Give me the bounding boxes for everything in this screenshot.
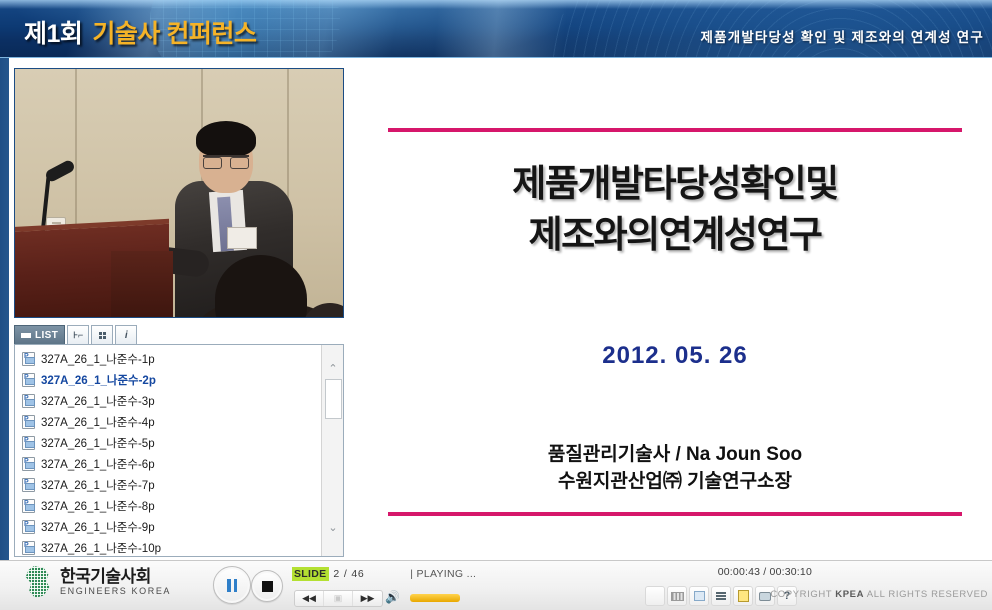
- volume-icon[interactable]: 🔊: [385, 590, 400, 604]
- copyright-brand: KPEA: [835, 589, 864, 600]
- slide-rule-top: [388, 128, 962, 132]
- slide-total: 46: [351, 568, 364, 580]
- tab-outline[interactable]: ⊦⌐: [67, 325, 89, 345]
- list-item[interactable]: 327A_26_1_나준수-8p: [15, 495, 319, 516]
- slide-list-box: 327A_26_1_나준수-1p 327A_26_1_나준수-2p 327A_2…: [14, 344, 344, 557]
- repeat-button[interactable]: ▣: [324, 591, 353, 606]
- powerpoint-file-icon: [22, 436, 35, 450]
- list-icon: [21, 333, 31, 338]
- lecture-video-player[interactable]: [14, 68, 344, 318]
- tab-list[interactable]: LIST: [14, 325, 65, 345]
- speaker-hair: [196, 121, 256, 157]
- scrollbar-thumb[interactable]: [325, 379, 342, 419]
- pause-icon: [227, 579, 237, 592]
- podium-side: [111, 251, 173, 317]
- zoom-view-icon[interactable]: [689, 586, 709, 606]
- slide-title-line2: 제조와의연계성연구: [358, 209, 992, 260]
- slide-label: SLIDE: [292, 567, 329, 581]
- kpea-logo-text: 한국기술사회 ENGINEERS KOREA: [60, 568, 171, 597]
- list-scrollbar[interactable]: ⌃ ⌄: [321, 345, 343, 556]
- slide-date: 2012. 05. 26: [358, 342, 992, 370]
- list-item[interactable]: 327A_26_1_나준수-3p: [15, 390, 319, 411]
- list-item[interactable]: 327A_26_1_나준수-6p: [15, 453, 319, 474]
- slide-list-items: 327A_26_1_나준수-1p 327A_26_1_나준수-2p 327A_2…: [15, 348, 319, 557]
- next-slide-button[interactable]: ▶▶: [353, 591, 382, 606]
- scroll-down-icon[interactable]: ⌄: [322, 518, 344, 536]
- list-item[interactable]: 327A_26_1_나준수-7p: [15, 474, 319, 495]
- list-item[interactable]: 327A_26_1_나준수-4p: [15, 411, 319, 432]
- previous-slide-button[interactable]: ◀◀: [295, 591, 324, 606]
- film-view-icon[interactable]: [667, 586, 687, 606]
- conference-title-prefix: 제1회: [24, 20, 82, 48]
- powerpoint-file-icon: [22, 373, 35, 387]
- playback-state: | PLAYING ...: [410, 568, 476, 580]
- slide-author-line2: 수원지관산업㈜ 기술연구소장: [358, 469, 992, 496]
- list-item-label: 327A_26_1_나준수-7p: [41, 477, 155, 493]
- list-item[interactable]: 327A_26_1_나준수-2p: [15, 369, 319, 390]
- slide-list-panel: LIST ⊦⌐ i 327A_26_1_나준수-1p 327A_26_1_나준수…: [14, 325, 344, 557]
- slide-author: 품질관리기술사 / Na Joun Soo 수원지관산업㈜ 기술연구소장: [358, 442, 992, 496]
- kpea-logo-kr: 한국기술사회: [60, 568, 171, 586]
- app-header: 제1회기술사 컨퍼런스 제품개발타당성 확인 및 제조와의 연계성 연구: [0, 0, 992, 58]
- powerpoint-file-icon: [22, 352, 35, 366]
- info-icon: i: [125, 330, 128, 341]
- list-item-label: 327A_26_1_나준수-4p: [41, 414, 155, 430]
- list-item[interactable]: 327A_26_1_나준수-10p: [15, 537, 319, 557]
- outline-tree-icon: ⊦⌐: [73, 330, 83, 341]
- tab-list-label: LIST: [35, 330, 58, 341]
- tab-grid[interactable]: [91, 325, 113, 345]
- slide-author-line1: 품질관리기술사 / Na Joun Soo: [358, 442, 992, 469]
- list-item[interactable]: 327A_26_1_나준수-5p: [15, 432, 319, 453]
- pause-button[interactable]: [213, 566, 251, 604]
- slide-current: 2: [333, 568, 339, 580]
- scroll-up-icon[interactable]: ⌃: [322, 359, 344, 377]
- powerpoint-file-icon: [22, 478, 35, 492]
- speaker-glasses: [203, 155, 249, 166]
- list-item-label: 327A_26_1_나준수-6p: [41, 456, 155, 472]
- powerpoint-file-icon: [22, 541, 35, 555]
- powerpoint-file-icon: [22, 520, 35, 534]
- list-item-label: 327A_26_1_나준수-2p: [41, 372, 156, 388]
- list-item-label: 327A_26_1_나준수-8p: [41, 498, 155, 514]
- list-panel-tabs: LIST ⊦⌐ i: [14, 325, 137, 345]
- powerpoint-file-icon: [22, 499, 35, 513]
- slide-separator: /: [344, 568, 348, 580]
- volume-slider[interactable]: [410, 594, 460, 602]
- list-item[interactable]: 327A_26_1_나준수-1p: [15, 348, 319, 369]
- list-item-label: 327A_26_1_나준수-3p: [41, 393, 155, 409]
- powerpoint-file-icon: [22, 457, 35, 471]
- outline-list-icon[interactable]: [711, 586, 731, 606]
- stop-icon: [262, 581, 273, 592]
- pen-note-icon[interactable]: [733, 586, 753, 606]
- list-item-label: 327A_26_1_나준수-1p: [41, 351, 155, 367]
- powerpoint-file-icon: [22, 415, 35, 429]
- slide-title-line1: 제품개발타당성확인및: [358, 158, 992, 209]
- stop-button[interactable]: [251, 570, 283, 602]
- slide-viewer[interactable]: 제품개발타당성확인및 제조와의연계성연구 2012. 05. 26 품질관리기술…: [358, 58, 992, 560]
- copyright-post: ALL RIGHTS RESERVED: [864, 589, 988, 600]
- grid-icon: [99, 332, 107, 340]
- copyright-notice: COPYRIGHT KPEA ALL RIGHTS RESERVED: [770, 589, 988, 600]
- list-item-label: 327A_26_1_나준수-10p: [41, 540, 161, 556]
- slide-nav-group: ◀◀ ▣ ▶▶: [294, 590, 383, 607]
- slide-rule-bottom: [388, 512, 962, 516]
- speaker-name-badge: [227, 227, 257, 249]
- kpea-logo: 한국기술사회 ENGINEERS KOREA: [22, 566, 171, 598]
- conference-title-main: 기술사 컨퍼런스: [92, 20, 256, 48]
- list-item-label: 327A_26_1_나준수-5p: [41, 435, 155, 451]
- presentation-subtitle: 제품개발타당성 확인 및 제조와의 연계성 연구: [700, 26, 984, 46]
- copyright-pre: COPYRIGHT: [770, 589, 835, 600]
- list-item-label: 327A_26_1_나준수-9p: [41, 519, 155, 535]
- conference-title: 제1회기술사 컨퍼런스: [24, 14, 256, 50]
- tab-info[interactable]: i: [115, 325, 137, 345]
- kpea-logo-en: ENGINEERS KOREA: [60, 586, 171, 596]
- timecode: 00:00:43 / 00:30:10: [718, 566, 812, 578]
- video-frame: [15, 69, 343, 317]
- powerpoint-file-icon: [22, 394, 35, 408]
- list-item[interactable]: 327A_26_1_나준수-9p: [15, 516, 319, 537]
- slide-view-icon[interactable]: [645, 586, 665, 606]
- korea-map-icon: [22, 566, 52, 598]
- slide-title: 제품개발타당성확인및 제조와의연계성연구: [358, 158, 992, 260]
